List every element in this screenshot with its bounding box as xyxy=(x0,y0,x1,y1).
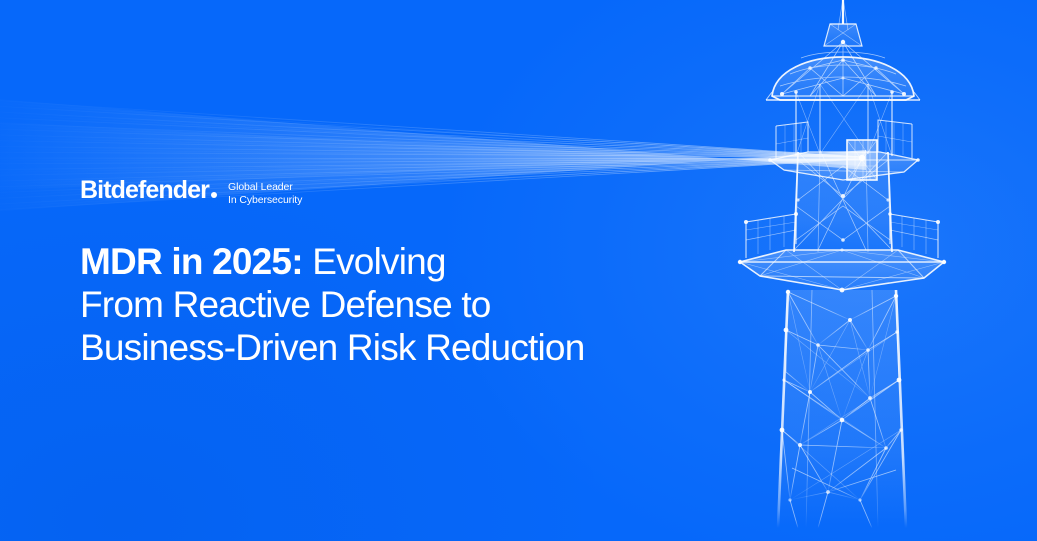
headline-line-2: From Reactive Defense to xyxy=(80,283,584,326)
brand-tagline: Global Leader In Cybersecurity xyxy=(228,178,302,208)
promo-banner: Bitdefender Global Leader In Cybersecuri… xyxy=(0,0,1037,541)
page-title: MDR in 2025: Evolving From Reactive Defe… xyxy=(80,240,584,369)
headline-line-1-rest: Evolving xyxy=(303,241,446,282)
headline-emphasis: MDR in 2025: xyxy=(80,241,303,282)
brand-tagline-line-1: Global Leader xyxy=(228,181,293,193)
brand-wordmark: Bitdefender xyxy=(80,178,217,203)
brand-tagline-line-2: In Cybersecurity xyxy=(228,194,302,206)
wireframe-lighthouse-graphic xyxy=(700,0,1037,541)
registered-trademark-icon xyxy=(211,192,217,198)
bitdefender-logo: Bitdefender Global Leader In Cybersecuri… xyxy=(80,178,302,208)
headline-line-1: MDR in 2025: Evolving xyxy=(80,240,584,283)
headline-line-3: Business-Driven Risk Reduction xyxy=(80,326,584,369)
brand-name: Bitdefender xyxy=(80,178,209,203)
